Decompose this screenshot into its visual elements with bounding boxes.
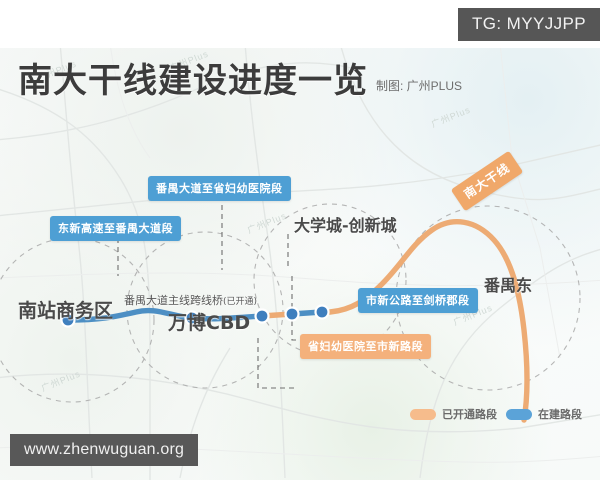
site-watermark: www.zhenwuguan.org (10, 434, 198, 466)
callout-panyu-avenue-to-hospital: 番禺大道至省妇幼医院段 (148, 176, 291, 201)
legend-swatch-opened-icon (410, 409, 436, 420)
place-panyu-dong: 番禺东 (484, 272, 532, 296)
bridge-note: 番禺大道主线跨线桥(已开通) (124, 292, 257, 308)
tg-watermark-badge: TG: MYYJJPP (458, 8, 600, 41)
infographic-canvas: 广州Plus 广州Plus 广州Plus 广州Plus 广州Plus 广州Plu… (0, 0, 600, 480)
page-title: 南大干线建设进度一览 (18, 64, 368, 98)
credit-label: 制图: 广州PLUS (376, 77, 462, 98)
bridge-note-paren: (已开通) (223, 297, 257, 307)
title-block: 南大干线建设进度一览 制图: 广州PLUS (18, 64, 462, 98)
place-wanbo-cbd: 万博CBD (168, 308, 250, 335)
bridge-note-main: 番禺大道主线跨线桥 (124, 294, 223, 307)
legend-item-building: 在建路段 (506, 406, 582, 422)
legend-label-building: 在建路段 (538, 406, 582, 422)
callout-hospital-to-shixin-road: 省妇幼医院至市新路段 (300, 334, 431, 359)
callout-shixin-to-jianqiaojun: 市新公路至剑桥郡段 (358, 288, 478, 313)
legend-label-opened: 已开通路段 (442, 406, 497, 422)
legend-swatch-building-icon (506, 409, 532, 420)
callout-dongxin: 东新高速至番禺大道段 (50, 216, 181, 241)
legend-item-opened: 已开通路段 (410, 406, 497, 422)
place-nanzhan: 南站商务区 (18, 296, 113, 323)
place-daxuecheng: 大学城-创新城 (294, 212, 397, 236)
legend: 已开通路段 在建路段 (410, 406, 582, 422)
